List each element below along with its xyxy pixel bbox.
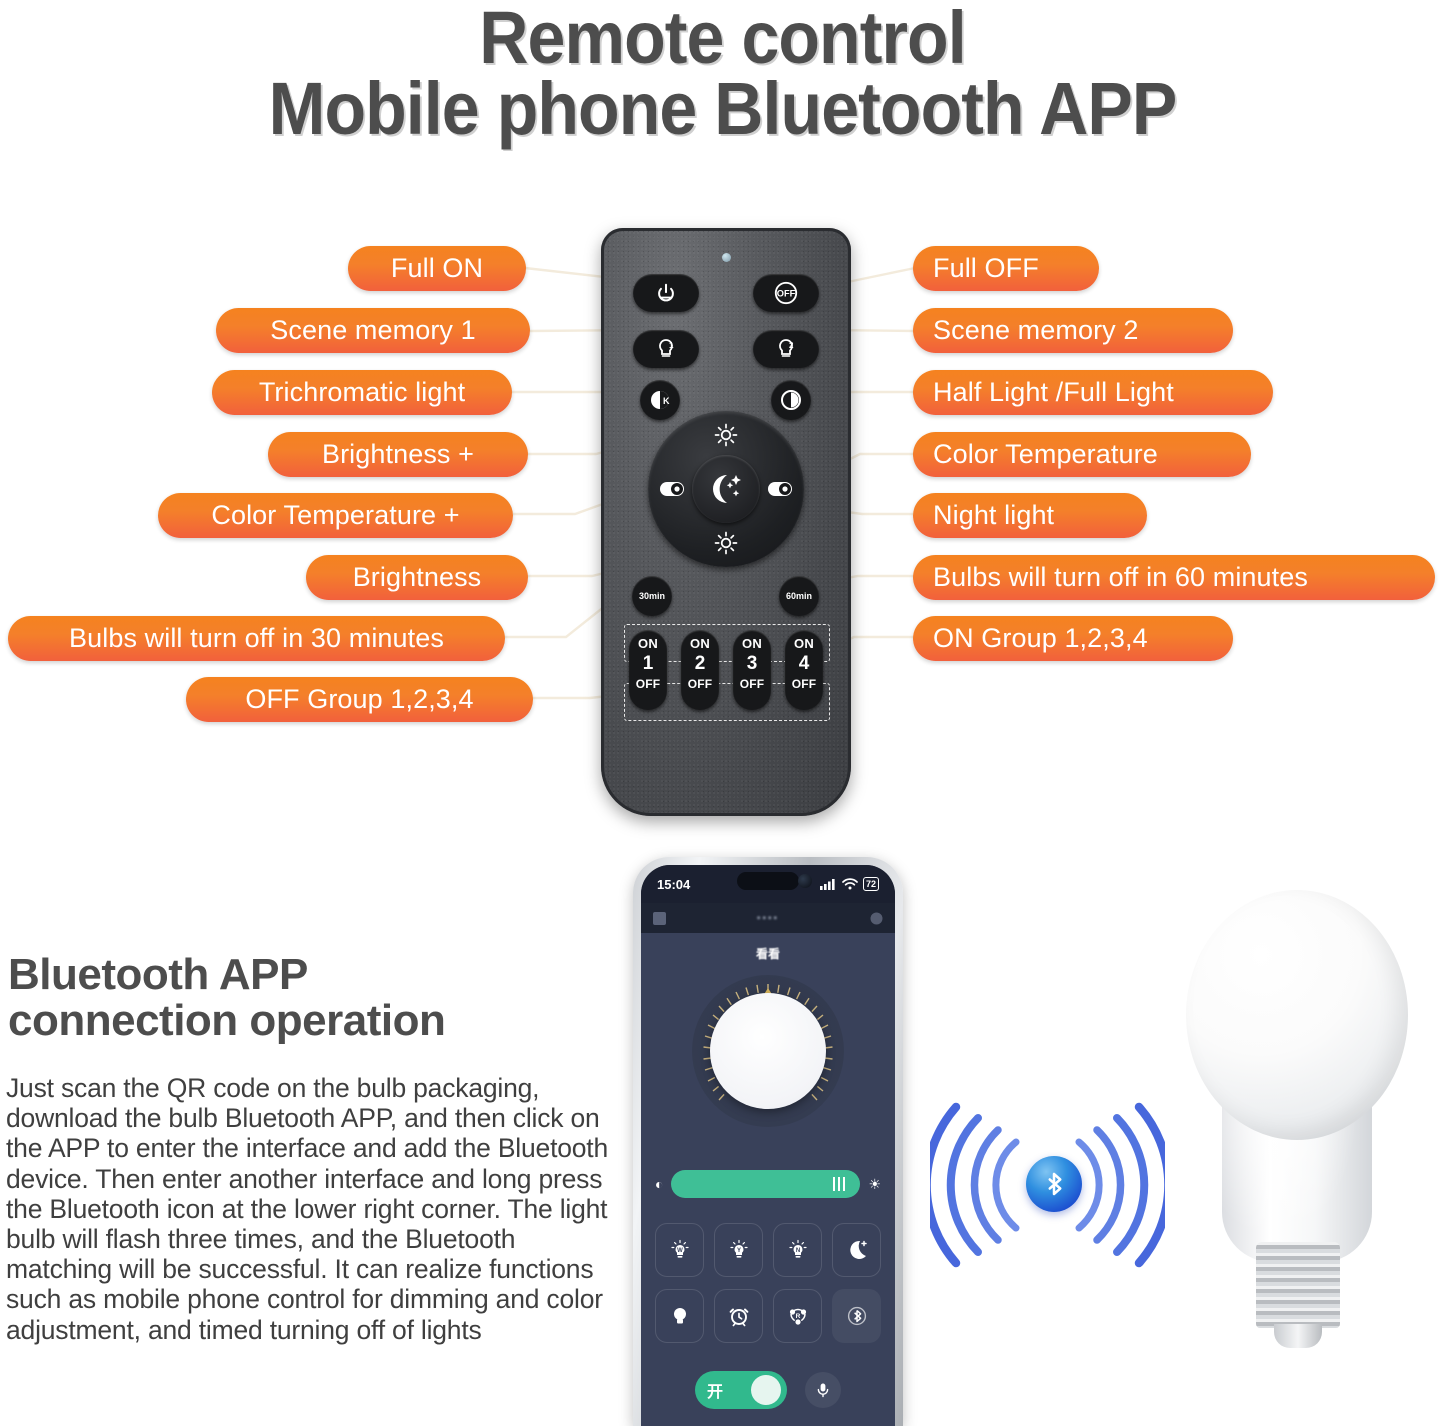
page-title: Remote control Mobile phone Bluetooth AP… — [0, 2, 1445, 144]
battery-level: 72 — [866, 878, 876, 890]
off-circle-icon: OFF — [773, 280, 799, 306]
app-section-body: Just scan the QR code on the bulb packag… — [6, 1073, 620, 1345]
directional-pad — [648, 411, 804, 567]
scene-bulb-1-icon: 1 — [654, 337, 678, 361]
group-3-on-label: ON — [733, 636, 771, 651]
rgb-cycle-icon: R — [786, 1304, 810, 1328]
trichromatic-light-button[interactable]: K — [640, 380, 680, 420]
callout-brightness-up[interactable]: Brightness + — [268, 432, 528, 477]
callout-label: Full OFF — [933, 253, 1039, 284]
callout-color-temperature[interactable]: Color Temperature — [913, 432, 1251, 477]
brightness-dial[interactable] — [692, 975, 844, 1127]
bulb-warm-w-button[interactable]: W — [655, 1223, 704, 1277]
timer-30min-label: 30min — [639, 591, 665, 601]
group-2-number: 2 — [681, 653, 719, 675]
timer-30min-button[interactable]: 30min — [632, 576, 672, 616]
brightness-icon: ☀ — [868, 1176, 881, 1193]
page-title-line1: Remote control — [58, 2, 1387, 73]
moon-icon — [845, 1238, 869, 1262]
half-full-light-button[interactable] — [771, 380, 811, 420]
brightness-down-button[interactable] — [710, 527, 742, 559]
moon-stars-icon — [703, 469, 749, 509]
bluetooth-pair-button[interactable] — [832, 1289, 881, 1343]
screen-label: 看看 — [641, 945, 895, 962]
callout-full-on[interactable]: Full ON — [348, 246, 526, 291]
full-on-button[interactable] — [633, 274, 699, 312]
color-temperature-up-button[interactable] — [656, 473, 688, 505]
callout-color-temp-up[interactable]: Color Temperature + — [158, 493, 513, 538]
bluetooth-glyph-icon — [1039, 1169, 1069, 1199]
bulb-natural-n-button[interactable]: N — [773, 1223, 822, 1277]
callout-label: Bulbs will turn off in 60 minutes — [933, 562, 1308, 593]
app-heading-line1: Bluetooth APP — [8, 952, 445, 998]
group-3-off-label: OFF — [733, 677, 771, 691]
half-moon-right-icon — [766, 480, 794, 498]
callout-label: Color Temperature — [933, 439, 1158, 470]
group-3-button[interactable]: ON 3 OFF — [733, 630, 771, 710]
group-1-off-label: OFF — [629, 677, 667, 691]
callout-trichromatic-light[interactable]: Trichromatic light — [212, 370, 512, 415]
rgb-cycle-button[interactable]: R — [773, 1289, 822, 1343]
svg-text:R: R — [795, 1313, 800, 1320]
bulb-n-icon: N — [786, 1238, 810, 1262]
sun-icon — [713, 530, 739, 556]
group-4-off-label: OFF — [785, 677, 823, 691]
phone-screen: 15:04 72 — [641, 865, 895, 1426]
callout-label: Brightness — [353, 562, 482, 593]
microphone-icon — [815, 1382, 831, 1398]
callout-half-full-light[interactable]: Half Light /Full Light — [913, 370, 1273, 415]
callout-label: Bulbs will turn off in 30 minutes — [69, 623, 444, 654]
alarm-clock-icon — [727, 1304, 751, 1328]
profile-icon[interactable] — [870, 912, 883, 925]
group-1-number: 1 — [629, 653, 667, 675]
brightness-slider[interactable] — [671, 1170, 860, 1198]
timer-60min-label: 60min — [786, 591, 812, 601]
half-circle-icon — [778, 387, 804, 413]
power-toggle[interactable]: 开 — [695, 1371, 787, 1409]
callout-full-off[interactable]: Full OFF — [913, 246, 1099, 291]
bulb-glass-dome — [1186, 890, 1408, 1140]
callout-label: Trichromatic light — [259, 377, 465, 408]
callout-night-light[interactable]: Night light — [913, 493, 1147, 538]
scene-1-number: 1 — [669, 341, 674, 350]
group-2-on-label: ON — [681, 636, 719, 651]
bulb-contact-tip — [1274, 1324, 1322, 1348]
phone-bottom-bar: 开 — [655, 1370, 881, 1410]
callout-60min-timer[interactable]: Bulbs will turn off in 60 minutes — [913, 555, 1435, 600]
group-3-number: 3 — [733, 653, 771, 675]
toggle-label: 开 — [707, 1378, 723, 1402]
svg-text:Y: Y — [736, 1248, 740, 1254]
menu-icon[interactable] — [653, 912, 666, 925]
bulb-y-icon: Y — [727, 1238, 751, 1262]
group-4-number: 4 — [785, 653, 823, 675]
page-title-line2: Mobile phone Bluetooth APP — [58, 73, 1387, 144]
callout-label: OFF Group 1,2,3,4 — [245, 684, 473, 715]
callout-off-group[interactable]: OFF Group 1,2,3,4 — [186, 677, 533, 722]
half-moon-left-icon — [658, 480, 686, 498]
callout-label: Brightness + — [322, 439, 474, 470]
brightness-up-button[interactable] — [710, 419, 742, 451]
remote-control: OFF 1 2 K — [601, 228, 851, 816]
battery-indicator: 72 — [863, 877, 879, 891]
callout-label: Night light — [933, 500, 1054, 531]
callout-brightness[interactable]: Brightness — [306, 555, 528, 600]
scene-2-number: 2 — [789, 341, 794, 350]
sun-icon — [713, 422, 739, 448]
phone-notch — [737, 872, 799, 890]
phone-app-body: 看看 — [641, 933, 895, 1426]
bluetooth-sphere — [1026, 1156, 1082, 1212]
scene-memory-2-button[interactable]: 2 — [753, 330, 819, 368]
group-buttons: ON 1 OFF ON 2 OFF ON 3 OFF ON 4 OFF — [629, 630, 823, 710]
callout-scene-memory-2[interactable]: Scene memory 2 — [913, 308, 1233, 353]
callout-label: ON Group 1,2,3,4 — [933, 623, 1148, 654]
power-icon — [655, 282, 677, 304]
dial-knob[interactable] — [710, 993, 826, 1109]
timer-60min-button[interactable]: 60min — [779, 576, 819, 616]
callout-label: Color Temperature + — [211, 500, 459, 531]
alarm-clock-button[interactable] — [714, 1289, 763, 1343]
group-2-off-label: OFF — [681, 677, 719, 691]
scene-bulb-2-icon: 2 — [774, 337, 798, 361]
voice-mic-button[interactable] — [805, 1372, 841, 1408]
bulb-yellow-y-button[interactable]: Y — [714, 1223, 763, 1277]
phone-app-navbar: ▪▪▪▪ — [641, 903, 895, 933]
callout-label: Half Light /Full Light — [933, 377, 1174, 408]
kelvin-contrast-icon: K — [647, 387, 673, 413]
brightness-slider-row: ◐ ☀ — [655, 1169, 881, 1199]
bulb-icon — [668, 1304, 692, 1328]
bulb-plain-button[interactable] — [655, 1289, 704, 1343]
callout-label: Scene memory 2 — [933, 315, 1138, 346]
bluetooth-icon — [845, 1304, 869, 1328]
cellular-signal-icon — [820, 878, 837, 890]
scene-memory-1-button[interactable]: 1 — [633, 330, 699, 368]
group-4-on-label: ON — [785, 636, 823, 651]
color-temperature-down-button[interactable] — [764, 473, 796, 505]
callout-scene-memory-1[interactable]: Scene memory 1 — [216, 308, 530, 353]
callout-30min-timer[interactable]: Bulbs will turn off in 30 minutes — [8, 616, 505, 661]
callout-on-group[interactable]: ON Group 1,2,3,4 — [913, 616, 1233, 661]
navbar-title: ▪▪▪▪ — [757, 913, 779, 924]
group-4-button[interactable]: ON 4 OFF — [785, 630, 823, 710]
slider-grip — [833, 1177, 846, 1191]
led-light-bulb — [1174, 890, 1420, 1370]
night-light-button[interactable] — [692, 455, 760, 523]
wifi-icon — [842, 878, 858, 890]
app-section-heading: Bluetooth APP connection operation — [8, 952, 445, 1044]
callout-label: Scene memory 1 — [270, 315, 475, 346]
app-function-grid: W Y — [655, 1223, 881, 1343]
app-heading-line2: connection operation — [8, 998, 445, 1044]
status-time: 15:04 — [657, 877, 690, 892]
group-2-button[interactable]: ON 2 OFF — [681, 630, 719, 710]
toggle-knob — [751, 1375, 781, 1405]
bulb-screw-base — [1256, 1242, 1340, 1328]
callout-label: Full ON — [391, 253, 483, 284]
moon-night-button[interactable] — [832, 1223, 881, 1277]
bluetooth-signal-graphic — [930, 1090, 1165, 1280]
ir-led-indicator — [722, 253, 731, 262]
svg-text:W: W — [677, 1248, 683, 1254]
dim-icon: ◐ — [655, 1176, 663, 1192]
svg-text:N: N — [795, 1248, 799, 1254]
off-text: OFF — [777, 289, 796, 299]
group-1-on-label: ON — [629, 636, 667, 651]
smartphone-mockup: 15:04 72 — [633, 857, 903, 1426]
kelvin-letter: K — [663, 396, 670, 406]
bulb-w-icon: W — [668, 1238, 692, 1262]
group-1-button[interactable]: ON 1 OFF — [629, 630, 667, 710]
full-off-button[interactable]: OFF — [753, 274, 819, 312]
